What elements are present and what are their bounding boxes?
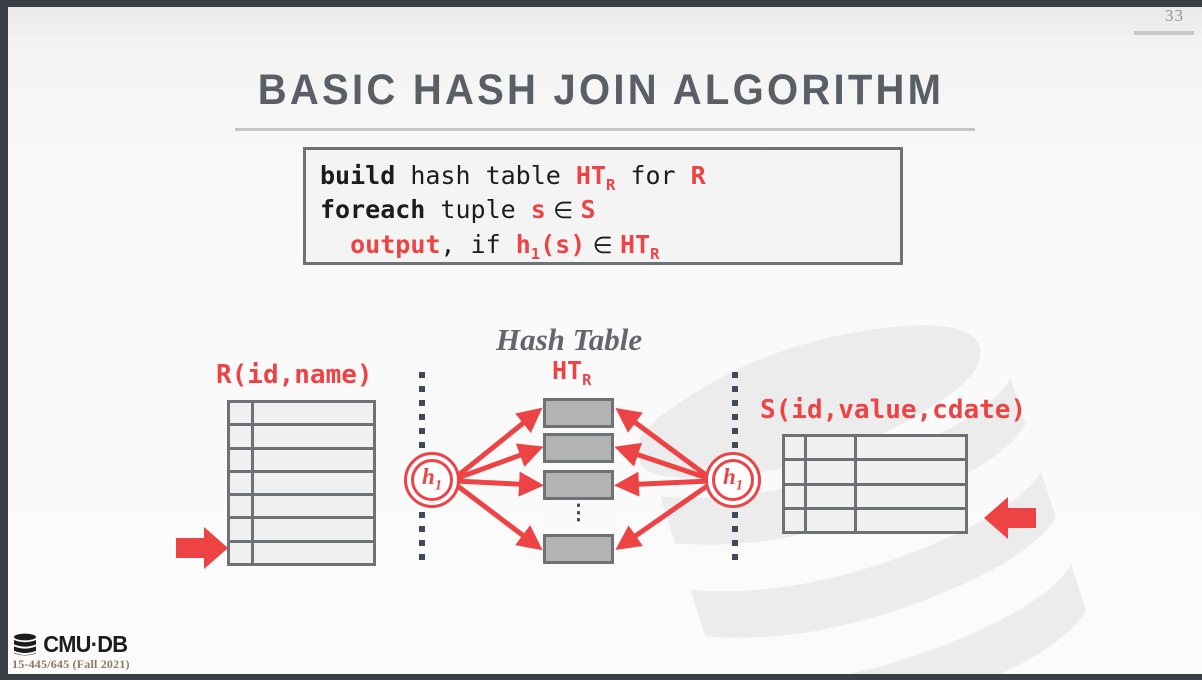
table-cell [254, 426, 373, 446]
table-cell [857, 486, 965, 507]
hash-function-right: h1 [705, 452, 761, 508]
table-cell [254, 403, 373, 423]
hash-fn-left-h: h [422, 464, 435, 489]
table-row [230, 450, 373, 473]
code-htr-2-sub: R [650, 245, 659, 263]
table-cell [785, 486, 807, 507]
code-text-tuple: tuple [425, 195, 530, 224]
code-text-for: for [615, 161, 690, 190]
code-keyword-foreach: foreach [320, 195, 425, 224]
code-var-s: s [531, 195, 546, 224]
hash-table-name-sub: R [582, 371, 591, 389]
table-cell [254, 450, 373, 470]
window-bottom-bar [0, 674, 1202, 680]
table-cell [230, 519, 254, 539]
code-keyword-build: build [320, 161, 395, 190]
table-row [785, 461, 965, 485]
code-text-if: , if [440, 230, 515, 259]
code-htr-1: HT [576, 161, 606, 190]
code-arg-s: s [555, 230, 570, 259]
code-paren-open: ( [540, 230, 555, 259]
relation-s-label: S(id,value,cdate) [760, 395, 1026, 425]
hash-bucket [543, 398, 614, 428]
table-row [785, 437, 965, 461]
table-cell [230, 543, 254, 563]
hash-bucket [543, 470, 614, 500]
window-top-bar [0, 0, 1202, 7]
course-label: 15-445/645 (Fall 2021) [12, 657, 130, 672]
code-hashfn-h: h [516, 230, 531, 259]
table-cell [857, 461, 965, 482]
code-paren-close: ) [570, 230, 585, 259]
page-title: BASIC HASH JOIN ALGORITHM [42, 66, 1160, 115]
table-row [230, 473, 373, 496]
input-arrow-s-icon [984, 497, 1036, 539]
code-output: output [350, 230, 440, 259]
hash-bucket-ellipsis: ⋮ [543, 500, 614, 530]
table-row [230, 519, 373, 542]
table-cell [230, 426, 254, 446]
table-cell [807, 461, 857, 482]
code-htr-1-sub: R [606, 176, 615, 194]
code-htr-2: HT [620, 230, 650, 259]
table-cell [254, 473, 373, 493]
table-row [785, 486, 965, 510]
database-cylinder-icon [12, 633, 38, 657]
table-cell [857, 437, 965, 458]
code-text-hashtable: hash table [395, 161, 576, 190]
relation-r-label: R(id,name) [216, 360, 373, 390]
table-cell [230, 473, 254, 493]
table-cell [807, 437, 857, 458]
table-row [785, 510, 965, 531]
slide-canvas: 33 BASIC HASH JOIN ALGORITHM build hash … [0, 0, 1202, 680]
hash-fn-right-sub: 1 [736, 478, 743, 494]
hash-table-title: Hash Table [496, 322, 642, 358]
table-cell [254, 496, 373, 516]
table-cell [230, 403, 254, 423]
page-number: 33 [1165, 6, 1184, 26]
hash-function-right-label: h1 [723, 465, 743, 495]
hash-table-name-label: HTR [552, 356, 591, 385]
table-cell [785, 510, 807, 531]
hash-bucket [543, 534, 614, 564]
code-hashfn-h-sub: 1 [531, 245, 540, 263]
cmudb-logo: CMU·DB [12, 631, 129, 658]
code-elem-op-1: ∈ [546, 198, 581, 224]
hash-table-name-text: HT [552, 356, 582, 385]
table-row [230, 403, 373, 426]
code-elem-op-2: ∈ [585, 233, 620, 259]
hash-function-right-inner: h1 [712, 459, 754, 501]
table-cell [254, 519, 373, 539]
hash-fn-right-h: h [723, 464, 736, 489]
table-cell [857, 510, 965, 531]
code-indent [320, 230, 350, 259]
table-cell [785, 437, 807, 458]
relation-r-table [227, 400, 376, 566]
hash-bucket [543, 433, 614, 463]
input-arrow-r-icon [176, 527, 228, 569]
hash-function-left-inner: h1 [411, 459, 453, 501]
hash-function-left: h1 [404, 452, 460, 508]
table-cell [230, 450, 254, 470]
table-cell [254, 543, 373, 563]
relation-s-table [782, 434, 968, 534]
window-left-bar [0, 0, 8, 680]
table-row [230, 426, 373, 449]
title-divider [235, 128, 975, 131]
table-row [230, 496, 373, 519]
hash-fn-left-sub: 1 [435, 478, 442, 494]
page-number-rule [1134, 31, 1194, 35]
table-cell [230, 496, 254, 516]
table-cell [807, 486, 857, 507]
hash-function-left-label: h1 [422, 465, 442, 495]
cmudb-wordmark: CMU·DB [43, 631, 127, 658]
code-rel-s: S [580, 195, 595, 224]
table-row [230, 543, 373, 563]
pseudocode-box: build hash table HTR for R foreach tuple… [303, 147, 903, 265]
table-cell [807, 510, 857, 531]
code-rel-r: R [691, 161, 706, 190]
table-cell [785, 461, 807, 482]
